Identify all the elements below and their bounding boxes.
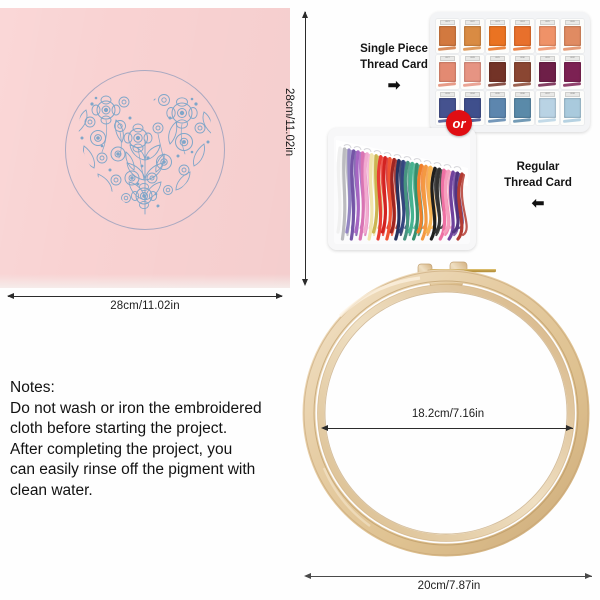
thread-swatch-color — [564, 62, 581, 82]
thread-swatch-color — [539, 98, 556, 118]
notes-line-4: can easily rinse off the pigment with — [10, 460, 300, 481]
embroidery-floss-bundle — [328, 128, 476, 250]
thread-swatch-code: 0924 — [515, 20, 530, 24]
thread-swatch: 0923 — [486, 19, 509, 53]
thread-swatch-color — [514, 98, 531, 118]
hoop-inner-diameter-label: 18.2cm/7.16in — [323, 408, 573, 420]
thread-swatch: 0924 — [511, 19, 534, 53]
thread-swatch-code: 0932 — [565, 56, 580, 60]
thread-swatch: 0925 — [536, 19, 559, 53]
thread-swatch-color — [539, 62, 556, 82]
thread-swatch-code: 0928 — [465, 56, 480, 60]
floss-strand — [338, 148, 340, 232]
thread-swatch-code: 0938 — [565, 92, 580, 96]
or-badge: or — [446, 110, 472, 136]
thread-swatch-tail — [488, 46, 507, 51]
thread-swatch: 0932 — [561, 55, 584, 89]
regular-thread-card-photo — [328, 128, 476, 250]
arrowhead-right-icon — [585, 573, 592, 579]
hoop-outer-diameter-line — [306, 576, 592, 577]
thread-swatch-code: 0926 — [565, 20, 580, 24]
thread-swatch-color — [489, 62, 506, 82]
thread-swatch-code: 0929 — [490, 56, 505, 60]
floss-strand — [351, 151, 353, 239]
thread-swatch: 0936 — [511, 91, 534, 125]
thread-swatch: 0930 — [511, 55, 534, 89]
thread-swatch: 0929 — [486, 55, 509, 89]
or-badge-text: or — [453, 116, 466, 131]
fabric-height-dimension-line — [305, 12, 306, 284]
notes-heading: Notes: — [10, 378, 300, 399]
thread-swatch-code: 0931 — [540, 56, 555, 60]
thread-swatch-code: 0923 — [490, 20, 505, 24]
arrowhead-left-icon — [304, 573, 311, 579]
fabric-width-dimension-line — [8, 296, 282, 297]
thread-swatch-tail — [513, 82, 532, 87]
thread-swatch-tail — [563, 118, 582, 123]
thread-swatch-color — [464, 62, 481, 82]
thread-swatch-code: 0935 — [490, 92, 505, 96]
hoop-outer-diameter-label: 20cm/7.87in — [306, 580, 592, 592]
thread-swatch-tail — [463, 46, 482, 51]
regular-label-line-2: Thread Card — [488, 176, 588, 192]
fabric-edge-fade — [0, 274, 290, 288]
arrow-row: ⬅ — [488, 196, 588, 211]
thread-swatch-tail — [513, 46, 532, 51]
thread-swatch: 0928 — [461, 55, 484, 89]
thread-swatch-color — [489, 98, 506, 118]
thread-swatch-tail — [538, 46, 557, 51]
regular-label-line-1: Regular — [488, 160, 588, 176]
floral-heart-design — [72, 80, 218, 222]
thread-swatch: 0922 — [461, 19, 484, 53]
embroidery-fabric-panel — [0, 8, 290, 288]
thread-swatch-tail — [538, 82, 557, 87]
thread-swatch-tail — [488, 118, 507, 123]
single-piece-thread-card-callout: Single Piece Thread Card ➡ — [344, 42, 444, 93]
thread-swatch-tail — [563, 82, 582, 87]
arrow-right-icon: ➡ — [388, 78, 401, 93]
single-piece-label-line-1: Single Piece — [344, 42, 444, 58]
arrowhead-right-icon — [566, 425, 573, 431]
arrowhead-left-icon — [321, 425, 328, 431]
thread-swatch-tail — [513, 118, 532, 123]
hoop-inner-diameter-line — [323, 428, 573, 429]
notes-line-1: Do not wash or iron the embroidered — [10, 399, 300, 420]
single-piece-label-line-2: Thread Card — [344, 58, 444, 74]
thread-swatch-tail — [463, 82, 482, 87]
thread-swatch: 0926 — [561, 19, 584, 53]
thread-swatch: 0935 — [486, 91, 509, 125]
thread-swatch-tail — [538, 118, 557, 123]
thread-swatch-code: 0937 — [540, 92, 555, 96]
fabric-width-label: 28cm/11.02in — [8, 300, 282, 312]
thread-swatch-code: 0921 — [440, 20, 455, 24]
thread-swatch: 0931 — [536, 55, 559, 89]
thread-swatch-tail — [488, 82, 507, 87]
thread-swatch-color — [514, 26, 531, 46]
arrowhead-up-icon — [302, 11, 308, 18]
regular-thread-card-callout: Regular Thread Card ⬅ — [488, 160, 588, 211]
thread-swatch-color — [489, 26, 506, 46]
arrowhead-left-icon — [7, 293, 14, 299]
thread-swatch-color — [564, 98, 581, 118]
thread-swatch-color — [464, 26, 481, 46]
thread-swatch-code: 0936 — [515, 92, 530, 96]
thread-swatch-code: 0922 — [465, 20, 480, 24]
notes-line-3: After completing the project, you — [10, 440, 300, 461]
thread-swatch-color — [539, 26, 556, 46]
thread-swatch-color — [514, 62, 531, 82]
thread-swatch: 0937 — [536, 91, 559, 125]
thread-swatch-code: 0930 — [515, 56, 530, 60]
arrow-row: ➡ — [344, 78, 444, 93]
thread-swatch-color — [564, 26, 581, 46]
thread-swatch: 0938 — [561, 91, 584, 125]
thread-swatch-tail — [563, 46, 582, 51]
notes-block: Notes: Do not wash or iron the embroider… — [10, 378, 300, 502]
arrowhead-right-icon — [276, 293, 283, 299]
thread-swatch-code: 0925 — [540, 20, 555, 24]
notes-line-5: clean water. — [10, 481, 300, 502]
product-infographic: 28cm/11.02in 28cm/11.02in Notes: Do not … — [0, 0, 600, 600]
fabric-height-label: 28cm/11.02in — [283, 88, 295, 156]
arrow-left-icon: ⬅ — [532, 196, 545, 211]
notes-line-2: cloth before starting the project. — [10, 419, 300, 440]
thread-swatch-code: 0934 — [465, 92, 480, 96]
